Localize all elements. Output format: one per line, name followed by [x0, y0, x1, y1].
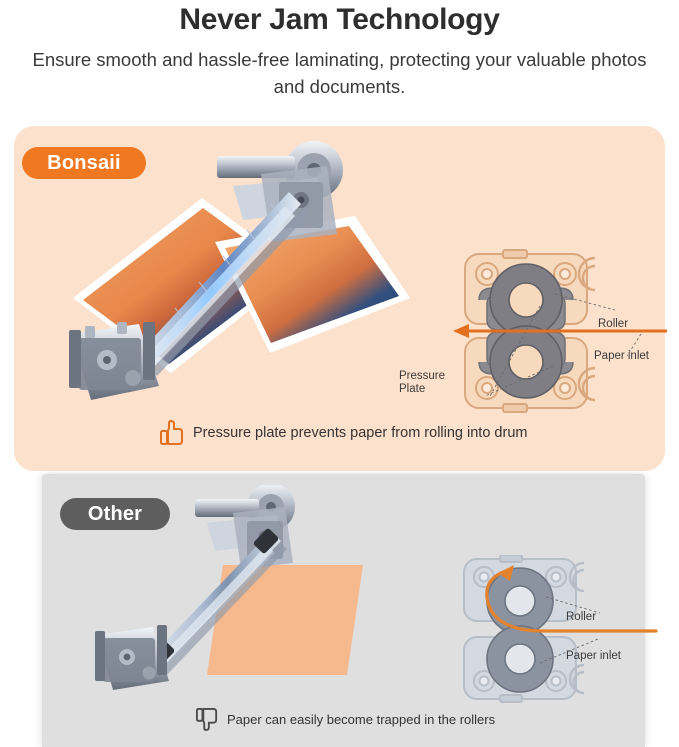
page-subtitle: Ensure smooth and hassle-free laminating… [20, 46, 660, 100]
diagram-label-paper-inlet-bonsaii: Paper inlet [594, 350, 649, 363]
caption-bonsaii: Pressure plate prevents paper from rolli… [160, 420, 527, 446]
caption-bonsaii-text: Pressure plate prevents paper from rolli… [193, 425, 527, 441]
laminator-illustration-bonsaii [65, 138, 410, 403]
thumbs-down-icon [196, 707, 218, 731]
page-header: Never Jam Technology Ensure smooth and h… [0, 0, 679, 100]
diagram-label-paper-inlet-other: Paper inlet [566, 650, 621, 663]
diagram-label-roller-other: Roller [566, 611, 596, 624]
thumbs-up-icon [160, 420, 184, 446]
roller-diagram-other [448, 555, 658, 705]
page-title: Never Jam Technology [0, 2, 679, 38]
left-bracket-assembly-other [95, 625, 169, 690]
diagram-label-pressure-plate: Pressure Plate [399, 370, 445, 396]
drive-head-assembly-other [195, 485, 295, 569]
caption-other-text: Paper can easily become trapped in the r… [227, 712, 495, 727]
caption-other: Paper can easily become trapped in the r… [196, 707, 495, 731]
left-bracket-assembly [69, 322, 159, 400]
diagram-label-roller-bonsaii: Roller [598, 318, 628, 331]
roller-diagram-bonsaii [445, 248, 670, 418]
laminator-illustration-other [95, 485, 395, 690]
